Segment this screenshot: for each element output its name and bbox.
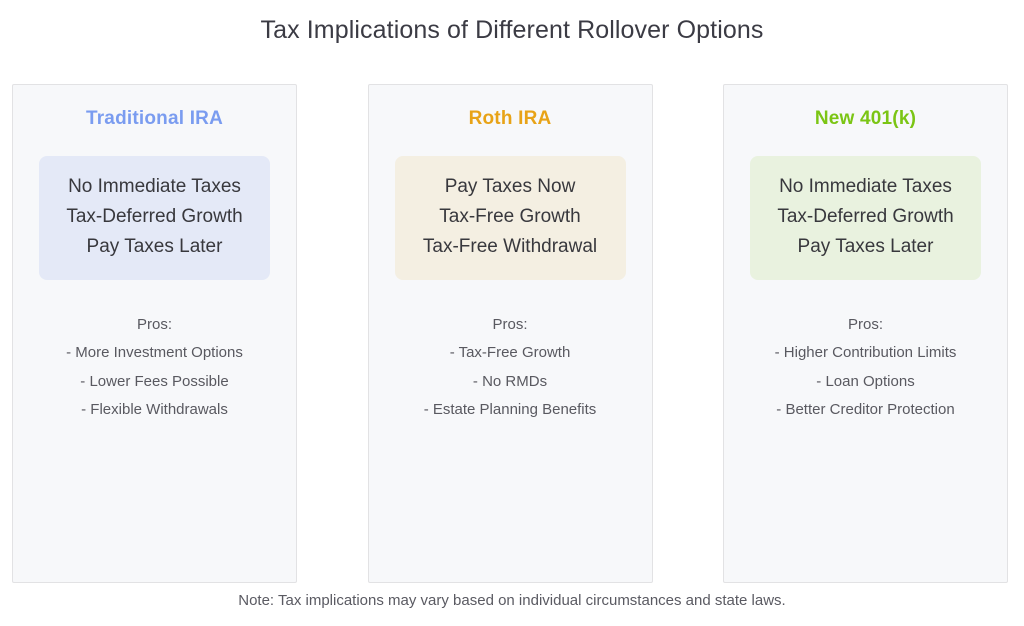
pros-item: - Higher Contribution Limits xyxy=(732,339,999,368)
card-traditional-ira: Traditional IRA No Immediate Taxes Tax-D… xyxy=(12,84,297,583)
pros-heading: Pros: xyxy=(21,310,288,339)
pros-item: - Tax-Free Growth xyxy=(377,339,644,368)
pros-block-new-401k: Pros: - Higher Contribution Limits - Loa… xyxy=(732,310,999,425)
footer-note: Note: Tax implications may vary based on… xyxy=(0,592,1024,609)
pros-heading: Pros: xyxy=(377,310,644,339)
pros-item: - Estate Planning Benefits xyxy=(377,396,644,425)
feature-line: Pay Taxes Later xyxy=(45,232,264,262)
pros-item: - Lower Fees Possible xyxy=(21,368,288,397)
pros-heading: Pros: xyxy=(732,310,999,339)
pros-item: - Better Creditor Protection xyxy=(732,396,999,425)
pros-block-traditional-ira: Pros: - More Investment Options - Lower … xyxy=(21,310,288,425)
page-title: Tax Implications of Different Rollover O… xyxy=(0,0,1024,60)
feature-line: Tax-Deferred Growth xyxy=(45,202,264,232)
card-title-traditional-ira: Traditional IRA xyxy=(13,108,296,130)
pros-item: - More Investment Options xyxy=(21,339,288,368)
card-new-401k: New 401(k) No Immediate Taxes Tax-Deferr… xyxy=(723,84,1008,583)
pros-item: - Loan Options xyxy=(732,368,999,397)
card-title-roth-ira: Roth IRA xyxy=(369,108,652,130)
pros-item: - Flexible Withdrawals xyxy=(21,396,288,425)
feature-line: Tax-Deferred Growth xyxy=(756,202,975,232)
feature-box-new-401k: No Immediate Taxes Tax-Deferred Growth P… xyxy=(750,156,981,280)
feature-line: Tax-Free Growth xyxy=(401,202,620,232)
card-roth-ira: Roth IRA Pay Taxes Now Tax-Free Growth T… xyxy=(368,84,653,583)
feature-line: No Immediate Taxes xyxy=(756,172,975,202)
pros-item: - No RMDs xyxy=(377,368,644,397)
card-title-new-401k: New 401(k) xyxy=(724,108,1007,130)
feature-line: No Immediate Taxes xyxy=(45,172,264,202)
feature-box-roth-ira: Pay Taxes Now Tax-Free Growth Tax-Free W… xyxy=(395,156,626,280)
feature-line: Pay Taxes Now xyxy=(401,172,620,202)
feature-line: Tax-Free Withdrawal xyxy=(401,232,620,262)
feature-box-traditional-ira: No Immediate Taxes Tax-Deferred Growth P… xyxy=(39,156,270,280)
rollover-options-cards: Traditional IRA No Immediate Taxes Tax-D… xyxy=(12,84,1008,583)
pros-block-roth-ira: Pros: - Tax-Free Growth - No RMDs - Esta… xyxy=(377,310,644,425)
feature-line: Pay Taxes Later xyxy=(756,232,975,262)
